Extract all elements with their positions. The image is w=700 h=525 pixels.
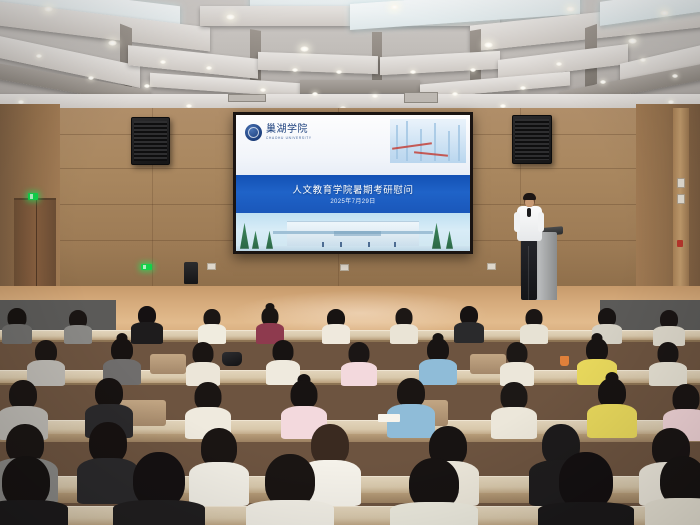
speaker-grille-right <box>515 119 549 160</box>
list-item <box>650 342 686 382</box>
exit-sign-stage-left <box>141 264 152 270</box>
projection-screen-frame: 巢湖学院 CHAOHU UNIVERSITY 人文教育学院暑期考研慰问 <box>233 112 473 254</box>
campus-gate-sign <box>334 231 381 236</box>
list-item <box>0 456 66 525</box>
trash-bin[interactable] <box>184 262 198 284</box>
paper-sheet <box>378 414 400 422</box>
right-side-wall <box>636 104 700 304</box>
list-item <box>420 338 456 382</box>
list-item <box>266 340 300 382</box>
list-item <box>248 454 332 525</box>
projection-screen[interactable]: 巢湖学院 CHAOHU UNIVERSITY 人文教育学院暑期考研慰问 <box>236 115 470 251</box>
list-item <box>500 342 534 382</box>
wall-outlet-2[interactable] <box>340 264 349 271</box>
presenter-trousers <box>521 240 537 300</box>
list-item <box>520 309 548 342</box>
list-item <box>392 458 476 525</box>
list-item <box>588 378 636 436</box>
list-item <box>654 310 684 342</box>
list-item <box>256 307 284 342</box>
ceiling <box>0 0 700 118</box>
list-item <box>454 306 484 342</box>
list-item <box>116 452 202 525</box>
list-item <box>2 308 32 342</box>
presenter <box>512 194 546 300</box>
fire-alarm-icon <box>677 240 683 247</box>
wall-outlet-1[interactable] <box>207 263 216 270</box>
slide-header-band: 巢湖学院 CHAOHU UNIVERSITY <box>236 115 470 175</box>
list-item <box>322 309 350 342</box>
university-name-en: CHAOHU UNIVERSITY <box>266 137 312 140</box>
university-logo: 巢湖学院 CHAOHU UNIVERSITY <box>245 124 312 141</box>
university-seal-icon <box>245 124 262 141</box>
slide-campus-photo <box>236 213 470 251</box>
presenter-hair <box>523 193 536 200</box>
list-item <box>648 456 700 525</box>
microphone-icon <box>527 208 531 217</box>
backpack <box>222 352 242 366</box>
university-name-cn: 巢湖学院 <box>266 125 312 135</box>
list-item <box>540 452 632 525</box>
list-item <box>104 338 140 382</box>
wall-outlet-3[interactable] <box>487 263 496 270</box>
wall-speaker-left <box>131 117 170 165</box>
list-item <box>198 309 226 342</box>
list-item <box>28 340 64 382</box>
list-item <box>132 306 162 342</box>
slide-title: 人文教育学院暑期考研慰问 <box>236 182 470 196</box>
audience-seating <box>0 296 700 525</box>
presenter-arm-left <box>514 212 520 232</box>
list-item <box>186 342 220 382</box>
list-item <box>342 342 376 382</box>
chair <box>150 354 186 374</box>
ceiling-vent <box>228 94 266 102</box>
list-item <box>390 308 418 342</box>
slide-date: 2025年7月29日 <box>236 196 470 205</box>
lecture-hall-photo: 巢湖学院 CHAOHU UNIVERSITY 人文教育学院暑期考研慰问 <box>0 0 700 525</box>
light-switch-right-2[interactable] <box>677 194 685 204</box>
speaker-grille-left <box>134 121 167 161</box>
right-pillar <box>673 108 689 304</box>
presenter-arm-right <box>538 212 544 232</box>
ceiling-projector <box>404 92 438 103</box>
list-item <box>64 310 92 342</box>
light-switch-right[interactable] <box>677 178 685 188</box>
slide-decorative-artwork <box>390 119 466 163</box>
cup <box>560 356 569 366</box>
wall-speaker-right <box>512 115 552 164</box>
slide-title-band: 人文教育学院暑期考研慰问 2025年7月29日 <box>236 175 470 213</box>
exit-sign-left <box>28 193 38 200</box>
